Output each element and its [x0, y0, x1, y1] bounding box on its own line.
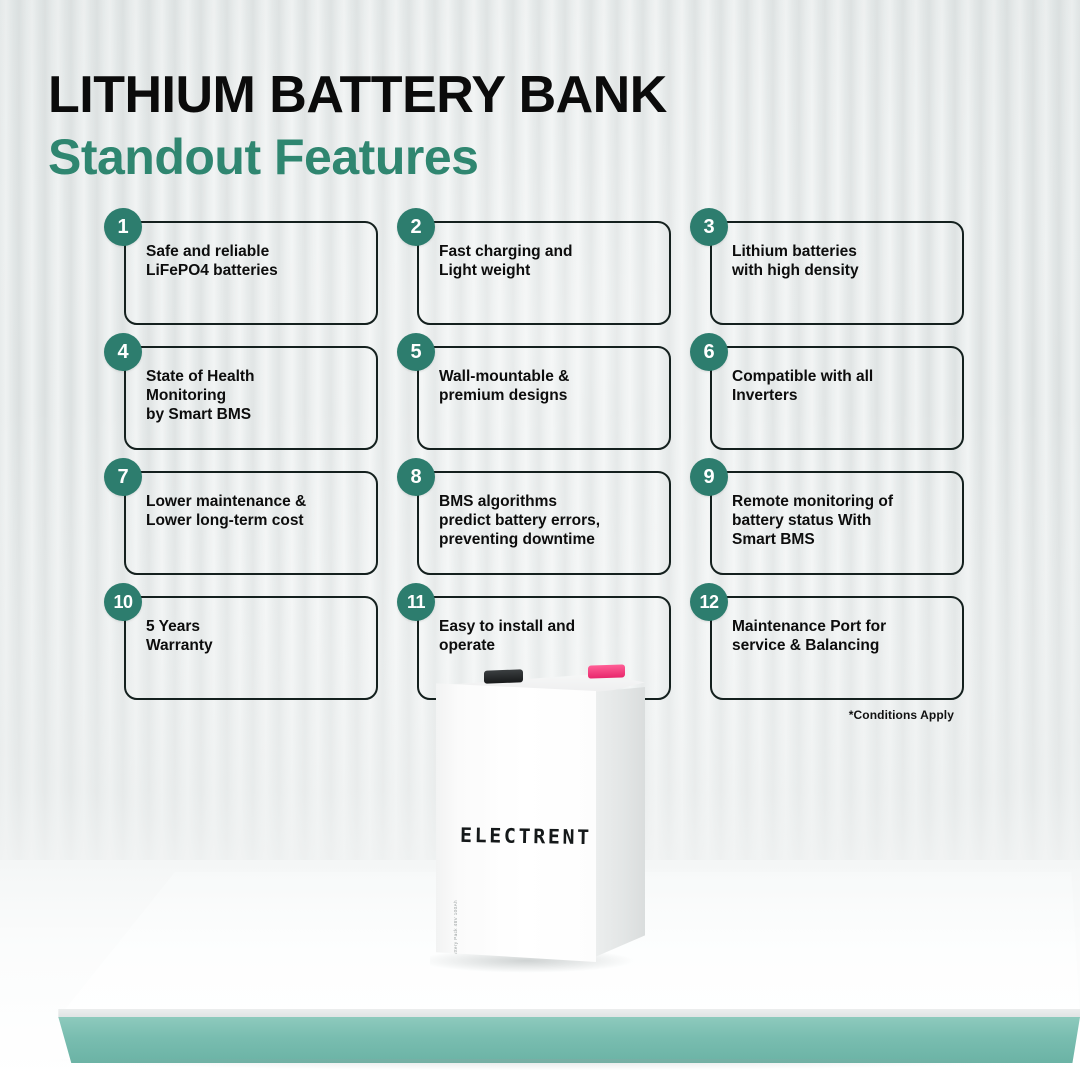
feature-number-badge: 11	[397, 583, 435, 621]
feature-number-badge: 6	[690, 333, 728, 371]
feature-number-badge: 10	[104, 583, 142, 621]
poster-canvas: LITHIUM BATTERY BANK Standout Features 1…	[0, 0, 1080, 1080]
battery-side-face	[595, 687, 645, 957]
feature-card-text: Compatible with all Inverters	[732, 367, 952, 405]
feature-card-5[interactable]: 5 Wall-mountable & premium designs	[397, 333, 671, 450]
feature-card-8[interactable]: 8 BMS algorithms predict battery errors,…	[397, 458, 671, 575]
feature-number-badge: 4	[104, 333, 142, 371]
feature-card-1[interactable]: 1 Safe and reliable LiFePO4 batteries	[104, 208, 378, 325]
feature-number-badge: 9	[690, 458, 728, 496]
page-title: LITHIUM BATTERY BANK	[48, 66, 667, 124]
podium-ground-shadow	[40, 1059, 1050, 1075]
battery-negative-terminal-icon	[484, 669, 523, 683]
feature-card-text: Easy to install and operate	[439, 617, 659, 655]
feature-number-badge: 2	[397, 208, 435, 246]
feature-card-2[interactable]: 2 Fast charging and Light weight	[397, 208, 671, 325]
feature-number-badge: 1	[104, 208, 142, 246]
feature-card-text: Lower maintenance & Lower long-term cost	[146, 492, 366, 530]
feature-card-text: Safe and reliable LiFePO4 batteries	[146, 242, 366, 280]
battery-product-image: ELECTRENT LiFePO4 Battery Pack 48V 100Ah	[436, 665, 668, 965]
feature-grid: 1 Safe and reliable LiFePO4 batteries 2 …	[104, 208, 984, 700]
battery-brand-logo: ELECTRENT	[460, 823, 592, 849]
battery-positive-terminal-icon	[588, 664, 625, 678]
feature-card-12[interactable]: 12 Maintenance Port for service & Balanc…	[690, 583, 964, 700]
feature-card-text: 5 Years Warranty	[146, 617, 366, 655]
podium-top-edge	[0, 1009, 1080, 1018]
feature-number-badge: 5	[397, 333, 435, 371]
heading-block: LITHIUM BATTERY BANK Standout Features	[48, 66, 667, 186]
feature-card-text: Lithium batteries with high density	[732, 242, 952, 280]
feature-card-text: State of Health Monitoring by Smart BMS	[146, 367, 366, 424]
feature-card-7[interactable]: 7 Lower maintenance & Lower long-term co…	[104, 458, 378, 575]
feature-card-9[interactable]: 9 Remote monitoring of battery status Wi…	[690, 458, 964, 575]
feature-card-6[interactable]: 6 Compatible with all Inverters	[690, 333, 964, 450]
feature-card-3[interactable]: 3 Lithium batteries with high density	[690, 208, 964, 325]
page-subtitle: Standout Features	[48, 128, 667, 186]
feature-number-badge: 7	[104, 458, 142, 496]
feature-card-text: BMS algorithms predict battery errors, p…	[439, 492, 659, 549]
feature-number-badge: 8	[397, 458, 435, 496]
feature-number-badge: 12	[690, 583, 728, 621]
feature-number-badge: 3	[690, 208, 728, 246]
feature-card-10[interactable]: 10 5 Years Warranty	[104, 583, 378, 700]
feature-card-text: Wall-mountable & premium designs	[439, 367, 659, 405]
podium-front-face	[0, 1017, 1080, 1063]
feature-card-text: Remote monitoring of battery status With…	[732, 492, 952, 549]
battery-front-face: ELECTRENT LiFePO4 Battery Pack 48V 100Ah	[436, 682, 596, 962]
feature-card-text: Fast charging and Light weight	[439, 242, 659, 280]
conditions-footnote: *Conditions Apply	[849, 708, 954, 722]
feature-card-text: Maintenance Port for service & Balancing	[732, 617, 952, 655]
feature-card-4[interactable]: 4 State of Health Monitoring by Smart BM…	[104, 333, 378, 450]
